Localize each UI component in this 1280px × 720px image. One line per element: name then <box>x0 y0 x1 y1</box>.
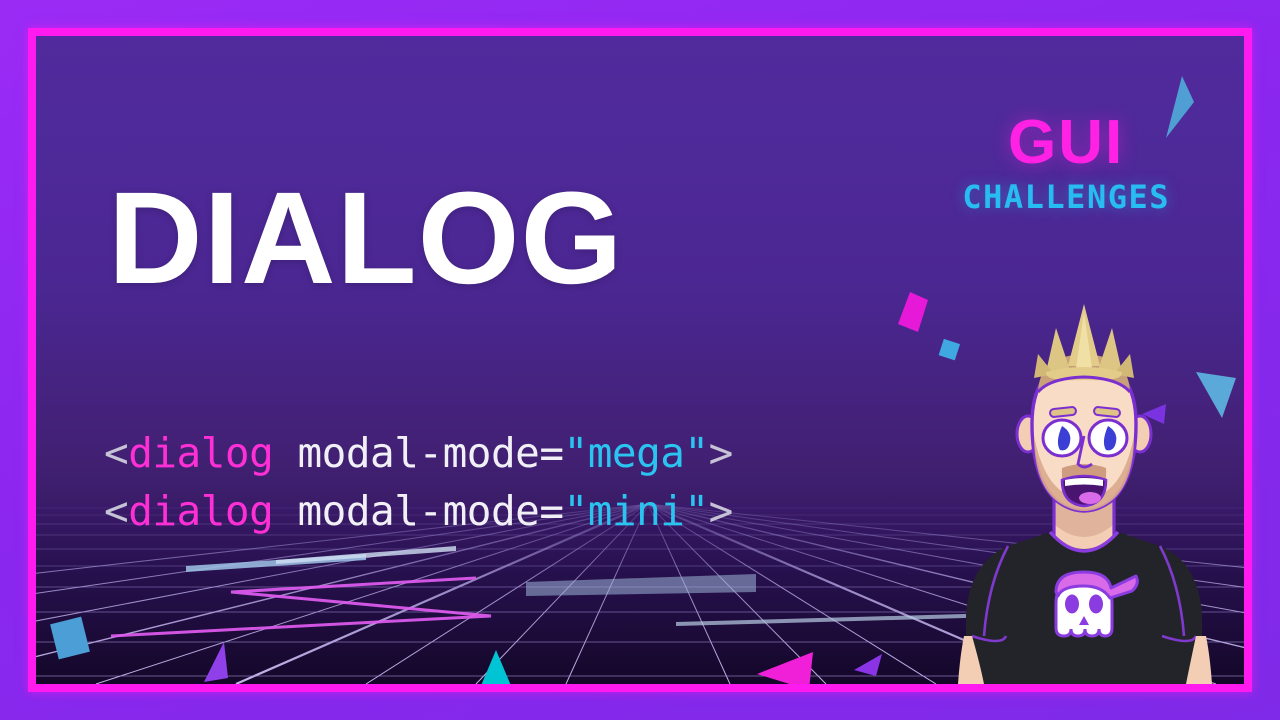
code-line: <dialog modal-mode="mini"> <box>104 482 733 540</box>
code-line: <dialog modal-mode="mega"> <box>104 424 733 482</box>
shard-magenta-triangle <box>751 644 817 684</box>
code-attribute-value: "mini" <box>564 487 709 535</box>
logo-primary-text: GUI <box>962 114 1170 173</box>
logo-secondary-text: CHALLENGES <box>962 178 1170 216</box>
code-attribute-name: modal-mode= <box>273 487 563 535</box>
gui-challenges-logo: GUI CHALLENGES <box>962 114 1170 216</box>
shard-violet-triangle <box>848 648 890 682</box>
code-open-bracket: < <box>104 487 128 535</box>
code-close-bracket: > <box>709 487 733 535</box>
neon-frame-border: DIALOG <dialog modal-mode="mega"><dialog… <box>28 28 1252 692</box>
thumbnail-canvas: DIALOG <dialog modal-mode="mega"><dialog… <box>0 0 1280 720</box>
shard-magenta-mid <box>888 288 934 344</box>
page-title: DIALOG <box>108 172 623 303</box>
code-tag-name: dialog <box>128 487 273 535</box>
code-tag-name: dialog <box>128 429 273 477</box>
code-snippet: <dialog modal-mode="mega"><dialog modal-… <box>104 424 733 540</box>
code-attribute-name: modal-mode= <box>273 429 563 477</box>
shard-cyan-triangle <box>476 644 524 684</box>
avatar-mouth <box>1062 476 1106 506</box>
code-close-bracket: > <box>709 429 733 477</box>
shard-purple-small <box>196 636 242 684</box>
code-open-bracket: < <box>104 429 128 477</box>
shard-blue-square <box>46 612 98 668</box>
code-attribute-value: "mega" <box>564 429 709 477</box>
thumbnail-inner-background: DIALOG <dialog modal-mode="mega"><dialog… <box>36 36 1244 684</box>
avatar <box>950 284 1218 684</box>
avatar-illustration <box>950 284 1218 684</box>
